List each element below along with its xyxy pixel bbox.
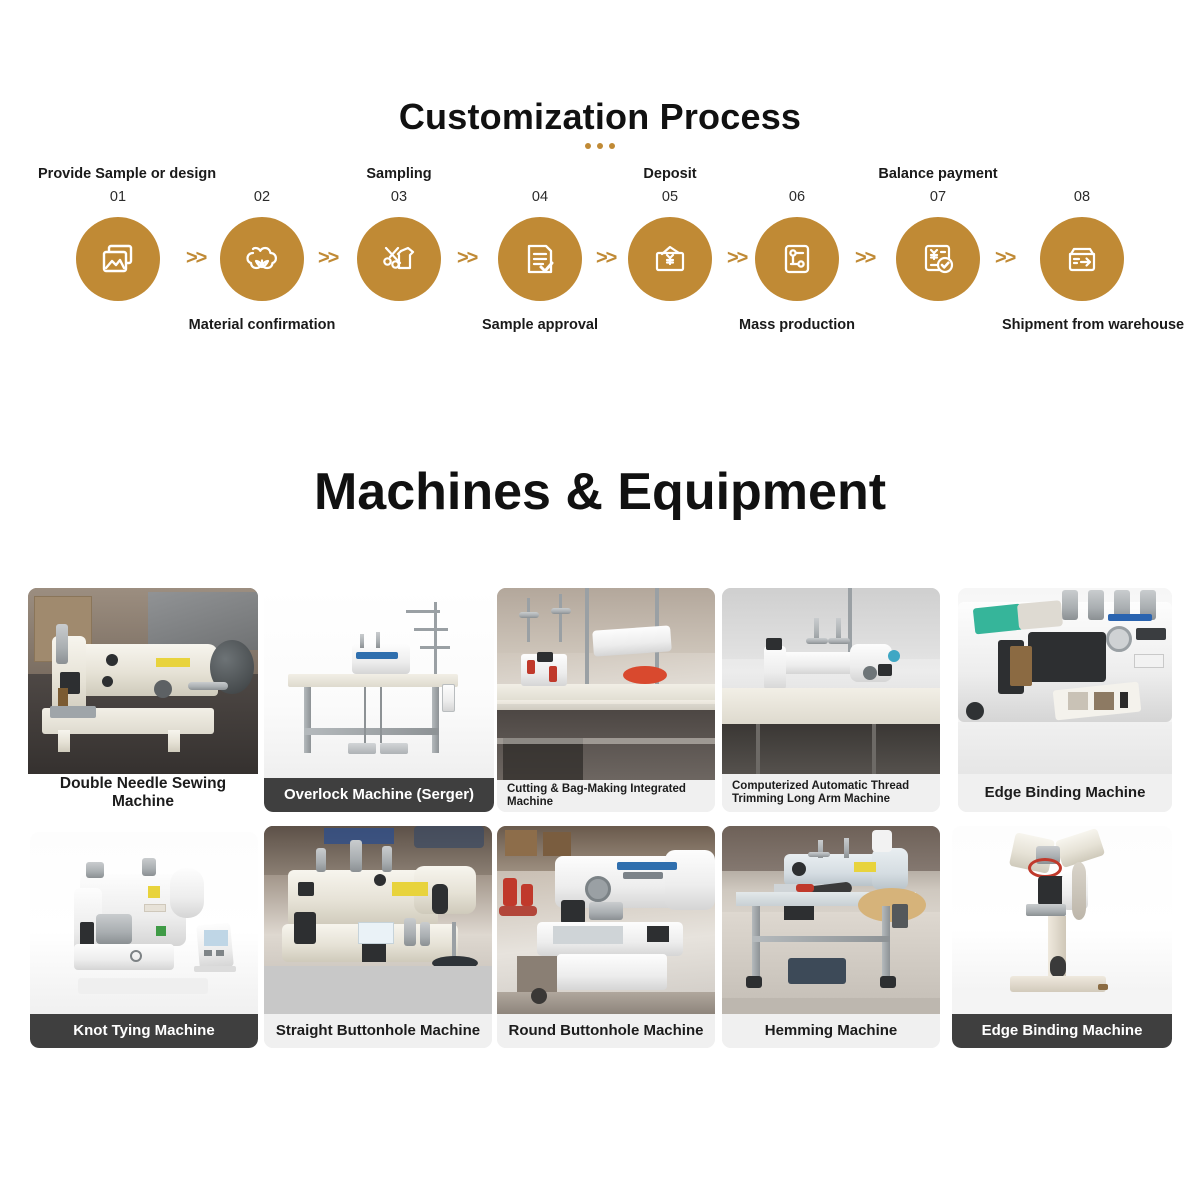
machine-tile-4[interactable]: Computerized Automatic Thread Trimming L…	[722, 588, 940, 812]
machine-photo-5	[958, 588, 1172, 774]
process-step-08[interactable]: Shipment from warehouse 08	[1012, 160, 1152, 360]
machine-caption-text-1: Double Needle Sewing Machine	[28, 775, 258, 811]
machine-tile-2[interactable]: Overlock Machine (Serger)	[264, 588, 494, 812]
step-label-08: Shipment from warehouse	[1002, 317, 1162, 333]
machine-photo-6	[30, 832, 258, 1014]
machine-photo-8	[497, 826, 715, 1014]
machine-tile-7[interactable]: Straight Buttonhole Machine	[264, 826, 492, 1048]
machine-caption-9: Hemming Machine	[722, 1014, 940, 1048]
production-flow-icon	[776, 238, 818, 280]
dot-1	[585, 143, 591, 149]
machine-caption-text-2: Overlock Machine (Serger)	[274, 786, 484, 803]
machine-photo-2	[264, 588, 494, 778]
step-icon-circle-01	[76, 217, 160, 301]
process-step-07[interactable]: Balance payment 07	[868, 160, 1008, 360]
step-label-03: Sampling	[319, 166, 479, 182]
machine-caption-text-7: Straight Buttonhole Machine	[266, 1022, 490, 1039]
machine-caption-7: Straight Buttonhole Machine	[264, 1014, 492, 1048]
step-number-02: 02	[192, 189, 332, 205]
process-title-dots	[0, 143, 1200, 149]
machine-photo-7	[264, 826, 492, 1014]
step-label-01: Provide Sample or design	[38, 166, 198, 182]
machine-tile-8[interactable]: Round Buttonhole Machine	[497, 826, 715, 1048]
process-step-02[interactable]: Material confirmation 02	[192, 160, 332, 360]
step-number-01: 01	[48, 189, 188, 205]
machine-tile-1[interactable]: Double Needle Sewing Machine	[28, 588, 258, 812]
step-number-07: 07	[868, 189, 1008, 205]
step-label-02: Material confirmation	[182, 317, 342, 333]
machine-caption-5: Edge Binding Machine	[958, 774, 1172, 812]
process-step-03[interactable]: Sampling 03	[329, 160, 469, 360]
machine-tile-6[interactable]: Knot Tying Machine	[30, 832, 258, 1048]
step-label-07: Balance payment	[858, 166, 1018, 182]
scissors-shirt-icon	[377, 237, 421, 281]
process-step-04[interactable]: Sample approval 04	[470, 160, 610, 360]
machine-photo-4	[722, 588, 940, 774]
money-envelope-yen-icon	[648, 237, 692, 281]
machine-caption-text-3: Cutting & Bag-Making Integrated Machine	[497, 783, 715, 809]
machine-photo-10	[952, 826, 1172, 1014]
machine-photo-3	[497, 588, 715, 780]
machine-caption-1: Double Needle Sewing Machine	[28, 774, 258, 812]
machine-caption-text-10: Edge Binding Machine	[972, 1022, 1153, 1039]
step-icon-circle-07	[896, 217, 980, 301]
machine-caption-text-9: Hemming Machine	[755, 1022, 908, 1039]
step-icon-circle-06	[755, 217, 839, 301]
machine-tile-9[interactable]: Hemming Machine	[722, 826, 940, 1048]
machine-caption-text-5: Edge Binding Machine	[975, 784, 1156, 801]
machine-caption-6: Knot Tying Machine	[30, 1014, 258, 1048]
step-number-04: 04	[470, 189, 610, 205]
machine-tile-3[interactable]: Hemming Machine Cutting & Bag-Making Int…	[497, 588, 715, 812]
image-gallery-icon	[97, 238, 139, 280]
invoice-yen-check-icon	[917, 238, 959, 280]
machine-caption-10: Edge Binding Machine	[952, 1014, 1172, 1048]
process-step-06[interactable]: Mass production 06	[727, 160, 867, 360]
process-step-01[interactable]: Provide Sample or design 01	[48, 160, 188, 360]
machine-tile-5[interactable]: Edge Binding Machine	[958, 588, 1172, 812]
document-check-icon	[519, 238, 561, 280]
step-icon-circle-05	[628, 217, 712, 301]
process-steps: Provide Sample or design 01 >> Material …	[0, 160, 1200, 360]
dot-3	[609, 143, 615, 149]
step-number-06: 06	[727, 189, 867, 205]
machine-photo-1	[28, 588, 258, 774]
step-icon-circle-04	[498, 217, 582, 301]
cotton-boll-icon	[240, 237, 284, 281]
step-label-04: Sample approval	[460, 317, 620, 333]
machine-tile-10[interactable]: Edge Binding Machine	[952, 826, 1172, 1048]
machine-caption-8: Round Buttonhole Machine	[497, 1014, 715, 1048]
machine-caption-4: Computerized Automatic Thread Trimming L…	[722, 774, 940, 812]
box-arrow-out-icon	[1060, 237, 1104, 281]
step-label-06: Mass production	[717, 317, 877, 333]
process-section-title: Customization Process	[0, 96, 1200, 138]
machine-photo-9	[722, 826, 940, 1014]
dot-2	[597, 143, 603, 149]
machine-caption-text-6: Knot Tying Machine	[63, 1022, 224, 1039]
machine-caption-2: Overlock Machine (Serger)	[264, 778, 494, 812]
machine-caption-text-8: Round Buttonhole Machine	[499, 1022, 714, 1039]
step-label-05: Deposit	[590, 166, 750, 182]
step-icon-circle-02	[220, 217, 304, 301]
step-number-03: 03	[329, 189, 469, 205]
machine-caption-3: Cutting & Bag-Making Integrated Machine	[497, 780, 715, 812]
step-number-05: 05	[600, 189, 740, 205]
step-icon-circle-03	[357, 217, 441, 301]
machines-section-title: Machines & Equipment	[0, 462, 1200, 522]
page-root: Customization Process Provide Sample or …	[0, 0, 1200, 1200]
step-number-08: 08	[1012, 189, 1152, 205]
machine-caption-text-4: Computerized Automatic Thread Trimming L…	[722, 780, 940, 806]
step-icon-circle-08	[1040, 217, 1124, 301]
